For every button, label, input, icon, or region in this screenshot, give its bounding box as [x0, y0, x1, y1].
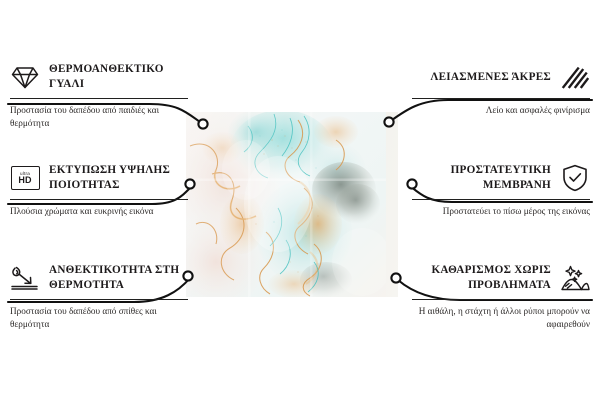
- feature-easy-cleaning[interactable]: ΚΑΘΑΡΙΣΜΟΣ ΧΩΡΙΣ ΠΡΟΒΛΗΜΑΤΑ Η αιθάλη, η …: [412, 263, 590, 331]
- feature-heat-resistant-glass[interactable]: ΘΕΡΜΟΑΝΘΕΚΤΙΚΟ ΓΥΑΛΙ Προστασία του δαπέδ…: [10, 62, 188, 130]
- marble-artwork: [186, 112, 386, 297]
- polished-edge-icon: [560, 63, 590, 91]
- feature-title: ΚΑΘΑΡΙΣΜΟΣ ΧΩΡΙΣ ΠΡΟΒΛΗΜΑΤΑ: [412, 263, 551, 293]
- feature-heat-durability[interactable]: ΑΝΘΕΚΤΙΚΟΤΗΤΑ ΣΤΗ ΘΕΡΜΟΤΗΤΑ Προστασία το…: [10, 263, 188, 331]
- feature-protective-membrane[interactable]: ΠΡΟΣΤΑΤΕΥΤΙΚΗ ΜΕΜΒΡΑΝΗ Προστατεύει το πί…: [412, 163, 590, 218]
- feature-description: Πλούσια χρώματα και ευκρινής εικόνα: [10, 205, 188, 218]
- flame-deflect-icon: [10, 264, 40, 292]
- feature-header: ΑΝΘΕΚΤΙΚΟΤΗΤΑ ΣΤΗ ΘΕΡΜΟΤΗΤΑ: [10, 263, 188, 293]
- feature-header: ΛΕΙΑΣΜΕΝΕΣ ΆΚΡΕΣ: [412, 62, 590, 92]
- product-image[interactable]: [186, 112, 386, 297]
- feature-header: ΚΑΘΑΡΙΣΜΟΣ ΧΩΡΙΣ ΠΡΟΒΛΗΜΑΤΑ: [412, 263, 590, 293]
- ultra-hd-icon: ultra HD: [10, 164, 40, 192]
- feature-title: ΛΕΙΑΣΜΕΝΕΣ ΆΚΡΕΣ: [430, 70, 551, 85]
- feature-divider: [412, 98, 590, 99]
- feature-divider: [10, 98, 188, 99]
- feature-header: ΘΕΡΜΟΑΝΘΕΚΤΙΚΟ ΓΥΑΛΙ: [10, 62, 188, 92]
- feature-title: ΠΡΟΣΤΑΤΕΥΤΙΚΗ ΜΕΜΒΡΑΝΗ: [412, 163, 551, 193]
- feature-title: ΘΕΡΜΟΑΝΘΕΚΤΙΚΟ ΓΥΑΛΙ: [49, 62, 188, 92]
- feature-description: Λείο και ασφαλές φινίρισμα: [412, 104, 590, 117]
- feature-title: ΕΚΤΥΠΩΣΗ ΥΨΗΛΗΣ ΠΟΙΟΤΗΤΑΣ: [49, 163, 188, 193]
- infographic-canvas: ΘΕΡΜΟΑΝΘΕΚΤΙΚΟ ΓΥΑΛΙ Προστασία του δαπέδ…: [0, 0, 600, 400]
- feature-divider: [10, 199, 188, 200]
- feature-description: Η αιθάλη, η στάχτη ή άλλοι ρύποι μπορούν…: [412, 305, 590, 331]
- feature-title: ΑΝΘΕΚΤΙΚΟΤΗΤΑ ΣΤΗ ΘΕΡΜΟΤΗΤΑ: [49, 263, 188, 293]
- feature-divider: [10, 299, 188, 300]
- feature-high-quality-print[interactable]: ultra HD ΕΚΤΥΠΩΣΗ ΥΨΗΛΗΣ ΠΟΙΟΤΗΤΑΣ Πλούσ…: [10, 163, 188, 218]
- feature-polished-edges[interactable]: ΛΕΙΑΣΜΕΝΕΣ ΆΚΡΕΣ Λείο και ασφαλές φινίρι…: [412, 62, 590, 117]
- ultra-hd-bottom-label: HD: [18, 176, 31, 185]
- feature-description: Προστατεύει το πίσω μέρος της εικόνας: [412, 205, 590, 218]
- product-image-container[interactable]: [186, 112, 386, 297]
- feature-divider: [412, 299, 590, 300]
- diamond-icon: [10, 63, 40, 91]
- shield-check-icon: [560, 164, 590, 192]
- feature-description: Προστασία του δαπέδου από σπίθες και θερ…: [10, 305, 188, 331]
- feature-description: Προστασία του δαπέδου από παιδιές και θε…: [10, 104, 188, 130]
- feature-header: ultra HD ΕΚΤΥΠΩΣΗ ΥΨΗΛΗΣ ΠΟΙΟΤΗΤΑΣ: [10, 163, 188, 193]
- feature-divider: [412, 199, 590, 200]
- feature-header: ΠΡΟΣΤΑΤΕΥΤΙΚΗ ΜΕΜΒΡΑΝΗ: [412, 163, 590, 193]
- sparkle-clean-icon: [560, 264, 590, 292]
